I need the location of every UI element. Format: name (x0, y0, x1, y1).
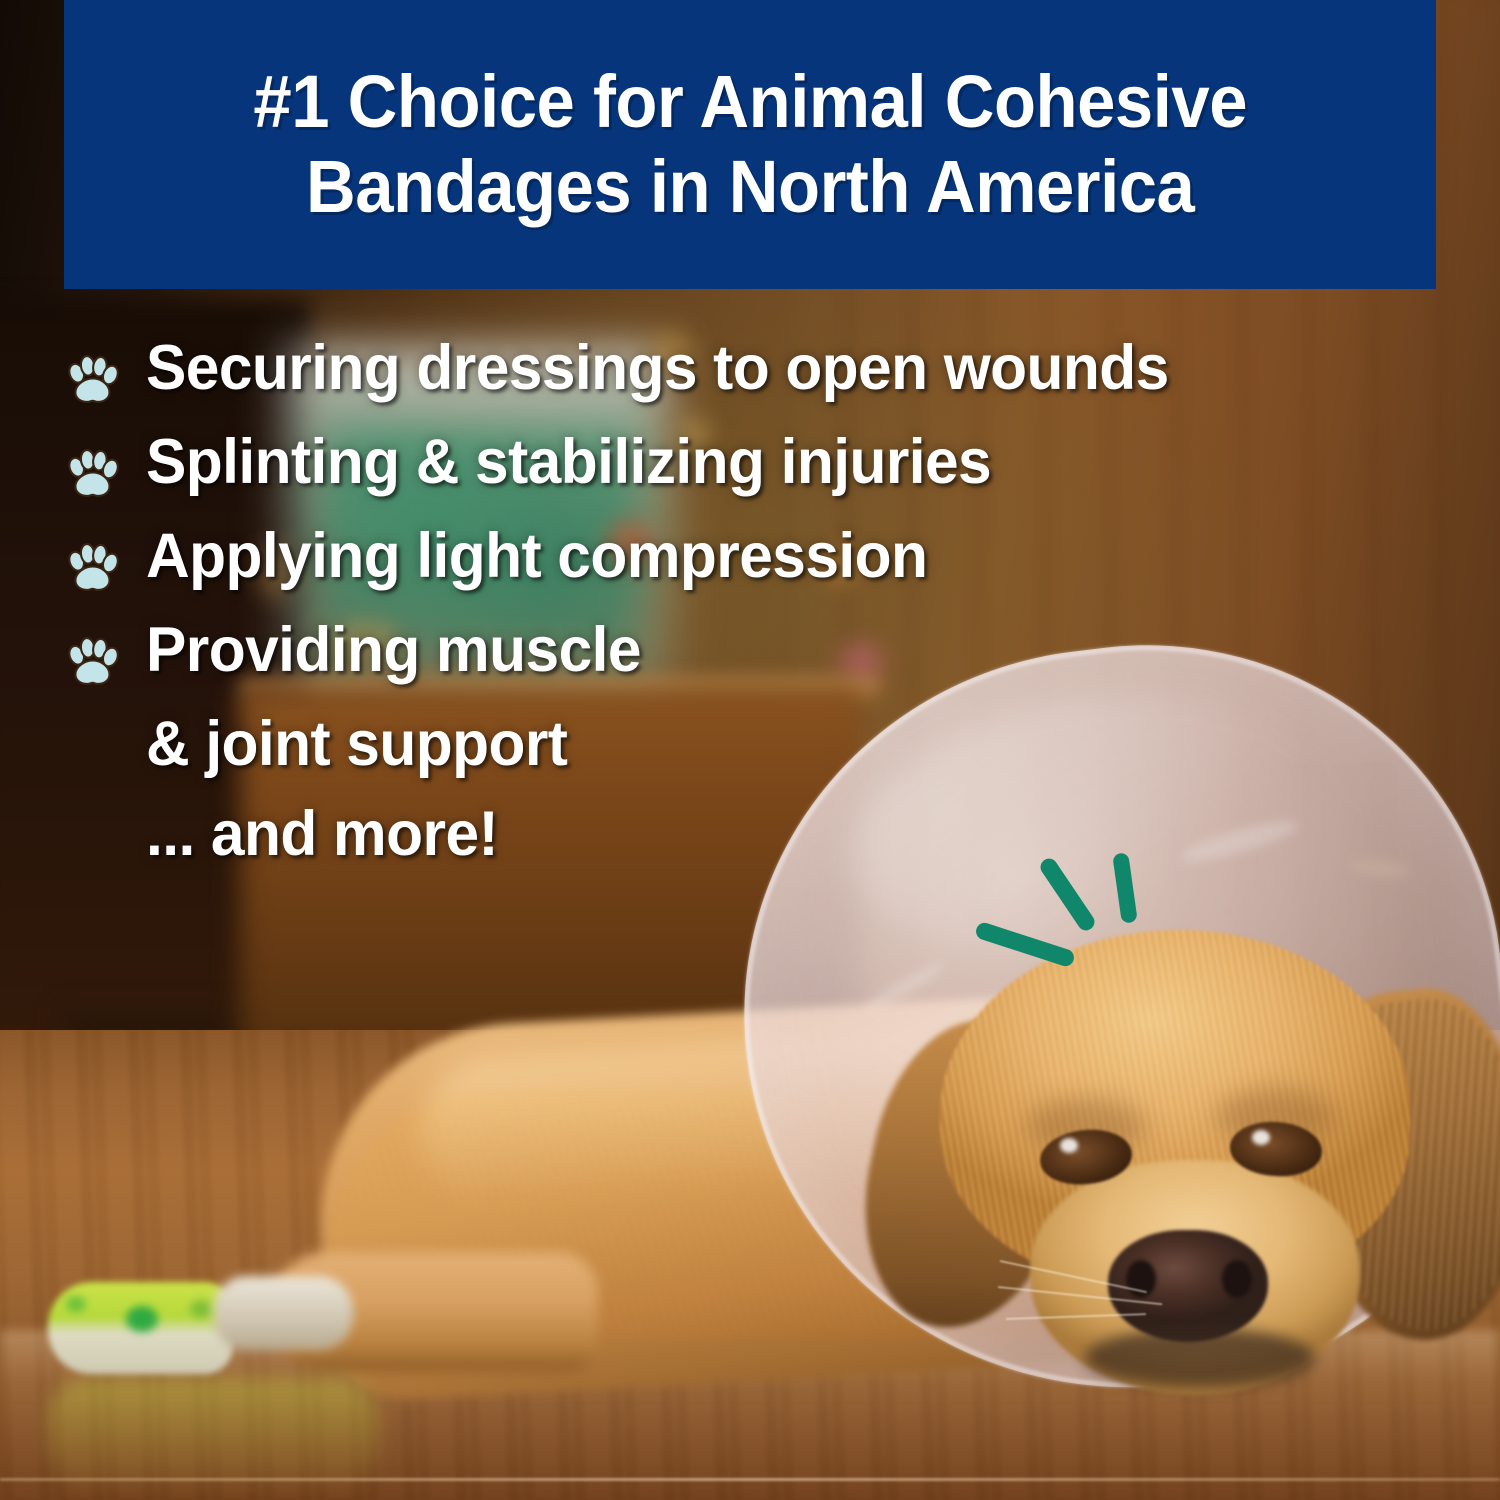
paw-print-icon (64, 542, 120, 598)
paw-print-icon (64, 636, 120, 692)
list-item: Securing dressings to open wounds (64, 330, 1484, 410)
toy-reflection (48, 1378, 378, 1488)
list-item-label: Securing dressings to open wounds (146, 330, 1169, 406)
paw-print-icon (64, 448, 120, 504)
banner-title: #1 Choice for Animal Cohesive Bandages i… (229, 60, 1271, 229)
header-banner: #1 Choice for Animal Cohesive Bandages i… (64, 0, 1436, 289)
toy-spot (126, 1306, 158, 1332)
list-item-label: Splinting & stabilizing injuries (146, 424, 991, 500)
dog-mouth (1085, 1328, 1315, 1388)
dog-eye-glint-right (1252, 1130, 1270, 1145)
dog-eye-glint-left (1060, 1138, 1078, 1153)
list-item-more: ... and more! (146, 796, 1484, 872)
dog-nostril-right (1222, 1260, 1252, 1298)
list-item: Applying light compression (64, 518, 1484, 598)
list-item: Splinting & stabilizing injuries (64, 424, 1484, 504)
promo-graphic: #1 Choice for Animal Cohesive Bandages i… (0, 0, 1500, 1500)
list-item-continuation: & joint support (146, 706, 1484, 782)
list-item: Providing muscle (64, 612, 1484, 692)
list-item-label: ... and more! (146, 796, 498, 872)
dog-nostril-left (1126, 1260, 1156, 1298)
dog-head (880, 930, 1500, 1400)
toy-spot (66, 1296, 86, 1312)
paw-print-icon (64, 354, 120, 410)
green-chew-toy (48, 1282, 233, 1374)
list-item-label: Providing muscle (146, 612, 641, 688)
list-item-label: Applying light compression (146, 518, 927, 594)
toy-spot (190, 1300, 212, 1318)
benefit-list: Securing dressings to open wounds Splint… (64, 330, 1484, 886)
list-item-label: & joint support (146, 706, 567, 782)
paw-bandage-wrap (213, 1276, 353, 1350)
